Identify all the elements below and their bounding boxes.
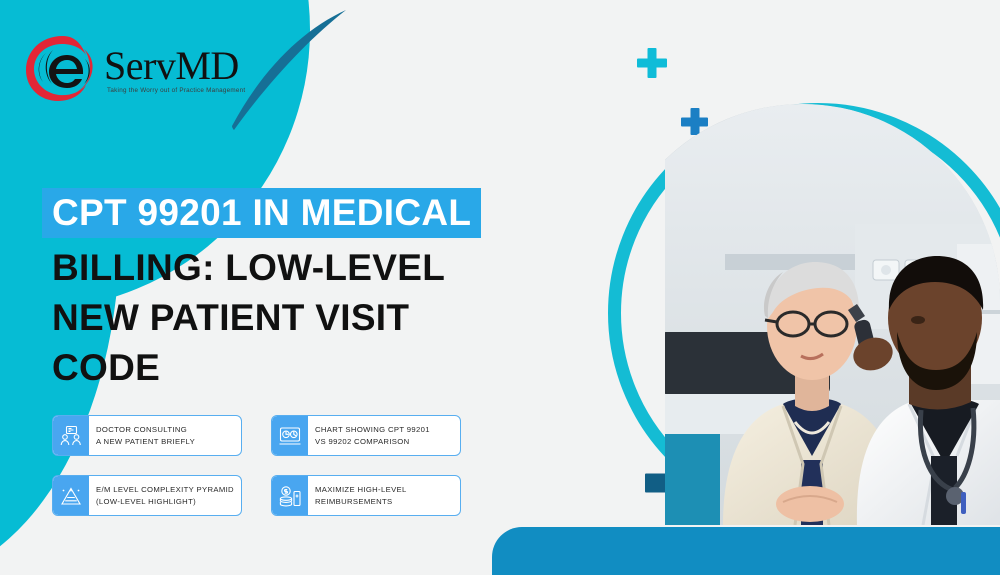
bottom-blue-bar [492, 527, 1000, 575]
hero-photo-illustration [665, 104, 1000, 525]
comparison-chart-icon [272, 416, 308, 455]
hero-photo-clip [665, 104, 1000, 525]
feature-text: MAXIMIZE HIGH-LEVEL REIMBURSEMENTS [308, 476, 460, 515]
feature-text-line-2: REIMBURSEMENTS [315, 496, 457, 508]
feature-box-doctor-consulting[interactable]: DOCTOR CONSULTING A NEW PATIENT BRIEFLY [52, 415, 242, 456]
e-logo-icon [22, 33, 100, 105]
feature-text-line-2: A NEW PATIENT BRIEFLY [96, 436, 238, 448]
doctor-consulting-icon [53, 416, 89, 455]
feature-text-line-1: CHART SHOWING CPT 99201 [315, 424, 457, 436]
feature-text: CHART SHOWING CPT 99201 VS 99202 COMPARI… [308, 416, 460, 455]
feature-box-comparison-chart[interactable]: CHART SHOWING CPT 99201 VS 99202 COMPARI… [271, 415, 461, 456]
feature-text-line-2: VS 99202 COMPARISON [315, 436, 457, 448]
brand-tagline: Taking the Worry out of Practice Managem… [107, 87, 245, 94]
feature-box-maximize-reimbursements[interactable]: MAXIMIZE HIGH-LEVEL REIMBURSEMENTS [271, 475, 461, 516]
brand-name: ServMD [104, 42, 239, 89]
banner-root: ServMD Taking the Worry out of Practice … [0, 0, 1000, 575]
hero-photo [665, 104, 1000, 525]
headline-line-2: BILLING: LOW-LEVEL [52, 243, 572, 293]
headline-line-3: NEW PATIENT VISIT [52, 293, 572, 343]
feature-text-line-1: DOCTOR CONSULTING [96, 424, 238, 436]
feature-text-line-1: E/M LEVEL COMPLEXITY PYRAMID [96, 484, 238, 496]
page-title: CPT 99201 IN MEDICAL BILLING: LOW-LEVEL … [52, 188, 572, 393]
feature-text-line-2: (LOW-LEVEL HIGHLIGHT) [96, 496, 238, 508]
complexity-pyramid-icon [53, 476, 89, 515]
feature-text-line-1: MAXIMIZE HIGH-LEVEL [315, 484, 457, 496]
feature-list: DOCTOR CONSULTING A NEW PATIENT BRIEFLY … [52, 415, 472, 516]
headline-line-4: CODE [52, 343, 572, 393]
headline-remaining-lines: BILLING: LOW-LEVEL NEW PATIENT VISIT COD… [52, 243, 572, 393]
money-stack-icon [272, 476, 308, 515]
feature-text: E/M LEVEL COMPLEXITY PYRAMID (LOW-LEVEL … [89, 476, 241, 515]
feature-box-complexity-pyramid[interactable]: E/M LEVEL COMPLEXITY PYRAMID (LOW-LEVEL … [52, 475, 242, 516]
feature-text: DOCTOR CONSULTING A NEW PATIENT BRIEFLY [89, 416, 241, 455]
brand-logo[interactable]: ServMD Taking the Worry out of Practice … [22, 33, 242, 107]
plus-icon-small-cyan [637, 48, 667, 78]
headline-highlighted-line: CPT 99201 IN MEDICAL [42, 188, 481, 238]
